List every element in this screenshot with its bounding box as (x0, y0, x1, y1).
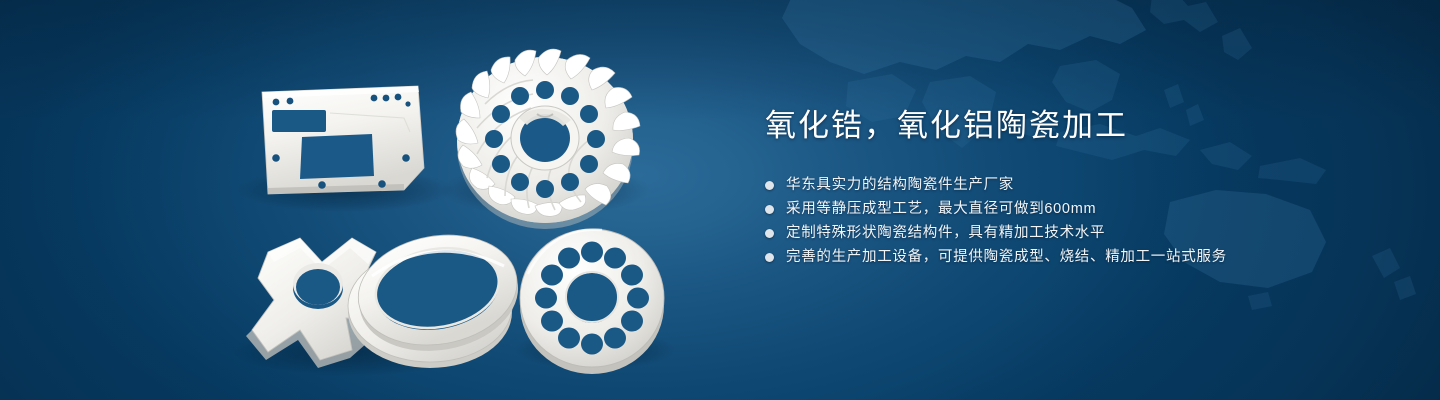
list-item-label: 采用等静压成型工艺，最大直径可做到600mm (786, 198, 1096, 221)
feature-list: 华东具实力的结构陶瓷件生产厂家 采用等静压成型工艺，最大直径可做到600mm 定… (765, 174, 1385, 269)
list-item: 完善的生产加工设备，可提供陶瓷成型、烧结、精加工一站式服务 (765, 246, 1385, 269)
hero-banner: 氧化锆，氧化铝陶瓷加工 华东具实力的结构陶瓷件生产厂家 采用等静压成型工艺，最大… (0, 0, 1440, 400)
list-item-label: 定制特殊形状陶瓷结构件，具有精加工技术水平 (786, 222, 1105, 245)
bullet-dot-icon (765, 181, 774, 190)
bullet-dot-icon (765, 229, 774, 238)
bullet-dot-icon (765, 253, 774, 262)
list-item-label: 华东具实力的结构陶瓷件生产厂家 (786, 174, 1014, 197)
ceramic-machined-plate (262, 86, 424, 194)
list-item-label: 完善的生产加工设备，可提供陶瓷成型、烧结、精加工一站式服务 (786, 246, 1227, 269)
product-photo-group (0, 0, 720, 400)
list-item: 华东具实力的结构陶瓷件生产厂家 (765, 174, 1385, 197)
list-item: 定制特殊形状陶瓷结构件，具有精加工技术水平 (765, 222, 1385, 245)
list-item: 采用等静压成型工艺，最大直径可做到600mm (765, 198, 1385, 221)
ceramic-rings (348, 223, 527, 368)
banner-copy: 氧化锆，氧化铝陶瓷加工 华东具实力的结构陶瓷件生产厂家 采用等静压成型工艺，最大… (765, 108, 1385, 270)
page-title: 氧化锆，氧化铝陶瓷加工 (765, 108, 1385, 145)
ceramic-flange-disc (520, 229, 664, 374)
bullet-dot-icon (765, 205, 774, 214)
